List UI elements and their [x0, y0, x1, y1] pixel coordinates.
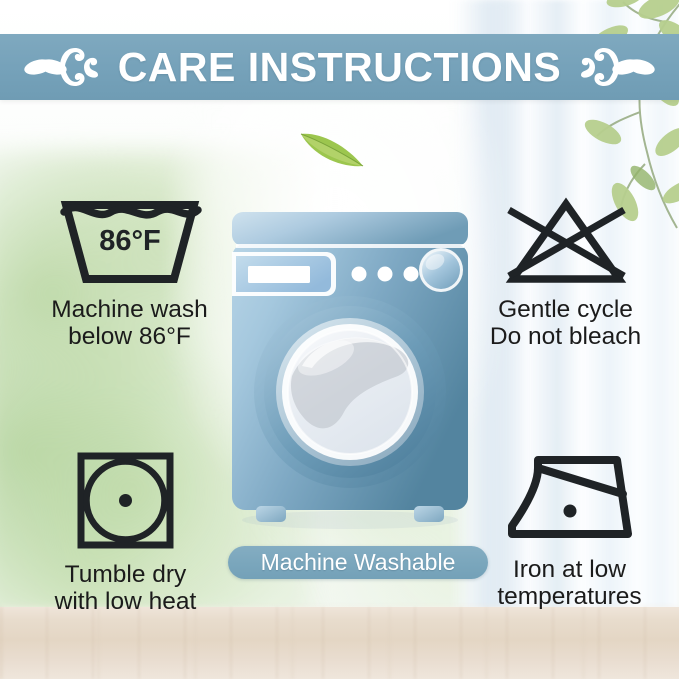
wooden-table-surface	[0, 607, 679, 679]
machine-top-panel	[232, 212, 468, 246]
control-indicator-lights	[352, 267, 419, 282]
washing-machine-illustration	[226, 208, 474, 533]
caption-line-1: Tumble dry	[55, 561, 197, 588]
care-symbol-caption: Tumble dry with low heat	[55, 561, 197, 616]
no-bleach-triangle-icon	[491, 196, 641, 288]
fleur-de-lis-icon	[24, 44, 98, 90]
caption-line-1: Gentle cycle	[490, 296, 641, 323]
wash-tub-icon: 86°F	[55, 196, 205, 288]
care-symbol-caption: Machine wash below 86°F	[51, 296, 208, 351]
care-symbol-iron: Iron at low temperatures	[462, 448, 677, 611]
banner: CARE INSTRUCTIONS	[0, 34, 679, 100]
care-symbol-tumble-dry: Tumble dry with low heat	[18, 448, 233, 616]
care-instructions-infographic: CARE INSTRUCTIONS 86°F Machine wash belo	[0, 0, 679, 679]
control-knob	[419, 248, 463, 292]
caption-line-2: temperatures	[497, 583, 641, 610]
caption-line-1: Iron at low	[497, 556, 641, 583]
care-symbol-caption: Gentle cycle Do not bleach	[490, 296, 641, 351]
machine-door	[254, 296, 446, 488]
wash-temperature-value: 86°F	[99, 225, 161, 257]
floating-leaf-icon	[297, 122, 369, 172]
iron-icon	[500, 448, 640, 548]
tumble-dry-icon	[73, 448, 178, 553]
page-title: CARE INSTRUCTIONS	[118, 47, 562, 88]
badge-label: Machine Washable	[261, 551, 456, 574]
caption-line-2: Do not bleach	[490, 323, 641, 350]
care-symbol-do-not-bleach: Gentle cycle Do not bleach	[458, 196, 673, 351]
machine-washable-badge: Machine Washable	[228, 546, 488, 579]
care-symbol-caption: Iron at low temperatures	[497, 556, 641, 611]
caption-line-2: below 86°F	[51, 323, 208, 350]
fleur-de-lis-icon	[581, 44, 655, 90]
caption-line-2: with low heat	[55, 588, 197, 615]
detergent-drawer	[232, 252, 336, 296]
caption-line-1: Machine wash	[51, 296, 208, 323]
care-symbol-machine-wash: 86°F Machine wash below 86°F	[22, 196, 237, 351]
